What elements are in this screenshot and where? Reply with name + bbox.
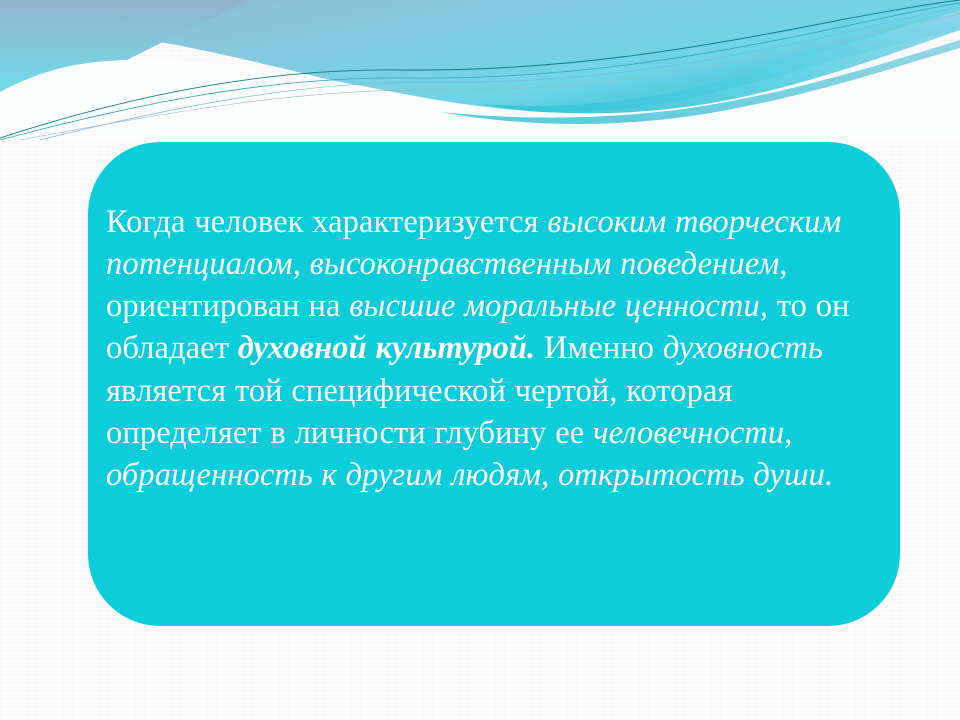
text-run-6: Именно: [535, 330, 663, 366]
body-paragraph: Когда человек характеризуется высоким тв…: [106, 201, 866, 497]
text-run-5: духовной культурой.: [238, 330, 536, 366]
wave-banner-decoration: [0, 0, 960, 140]
text-run-0: Когда человек характеризуется: [106, 204, 547, 240]
content-card: Когда человек характеризуется высоким тв…: [88, 142, 900, 626]
text-run-3: высшие моральные ценности: [349, 288, 760, 324]
text-run-7: духовность: [663, 330, 823, 366]
slide-canvas: Когда человек характеризуется высоким тв…: [0, 0, 960, 720]
